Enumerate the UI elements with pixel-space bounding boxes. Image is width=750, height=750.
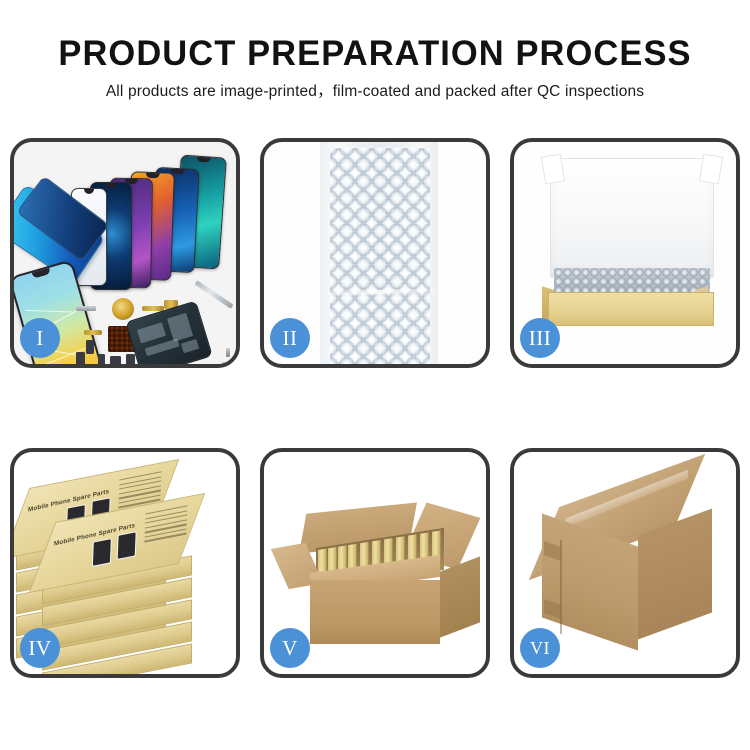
part-connector-b (98, 354, 105, 364)
header: PRODUCT PREPARATION PROCESS All products… (0, 0, 750, 102)
part-flex-cable-c (84, 330, 102, 335)
step-badge-3: III (520, 318, 560, 358)
step-panel-2: II (260, 138, 490, 368)
step-panel-4: Mobile Phone Spare Parts (10, 448, 240, 678)
bubble-wrap-sheet (320, 142, 438, 364)
step-badge-2: II (270, 318, 310, 358)
step-panel-5: V (260, 448, 490, 678)
step-badge-6: VI (520, 628, 560, 668)
step-badge-4: IV (20, 628, 60, 668)
bubble-wrapped-items (554, 268, 710, 294)
inner-box-contents (554, 268, 710, 294)
box-screen-image (117, 531, 137, 560)
bubble-grid-offset (330, 148, 430, 364)
inner-box-front-panel (548, 292, 714, 326)
part-connector-a (86, 340, 94, 354)
inner-box-lid (550, 158, 714, 278)
step-panel-3: III (510, 138, 740, 368)
part-button-module (126, 354, 135, 364)
steps-grid: I II (10, 138, 740, 678)
box-spec-lines (144, 505, 187, 547)
part-screw-b (234, 358, 236, 364)
step-panel-6: VI (510, 448, 740, 678)
part-camera-module (110, 356, 121, 364)
part-sim-tray (76, 352, 85, 364)
box-screen-image (92, 538, 112, 567)
page-subtitle: All products are image-printed，film-coat… (0, 82, 750, 102)
carton-front-panel (310, 580, 440, 644)
part-speaker-mesh (76, 306, 96, 311)
part-screw-a (226, 348, 230, 357)
part-vibration-coil (112, 298, 134, 320)
part-screw-c (222, 362, 226, 364)
step-badge-1: I (20, 318, 60, 358)
step-badge-5: V (270, 628, 310, 668)
page-title: PRODUCT PREPARATION PROCESS (6, 34, 745, 74)
step-panel-1: I (10, 138, 240, 368)
product-preparation-infographic: PRODUCT PREPARATION PROCESS All products… (0, 0, 750, 750)
